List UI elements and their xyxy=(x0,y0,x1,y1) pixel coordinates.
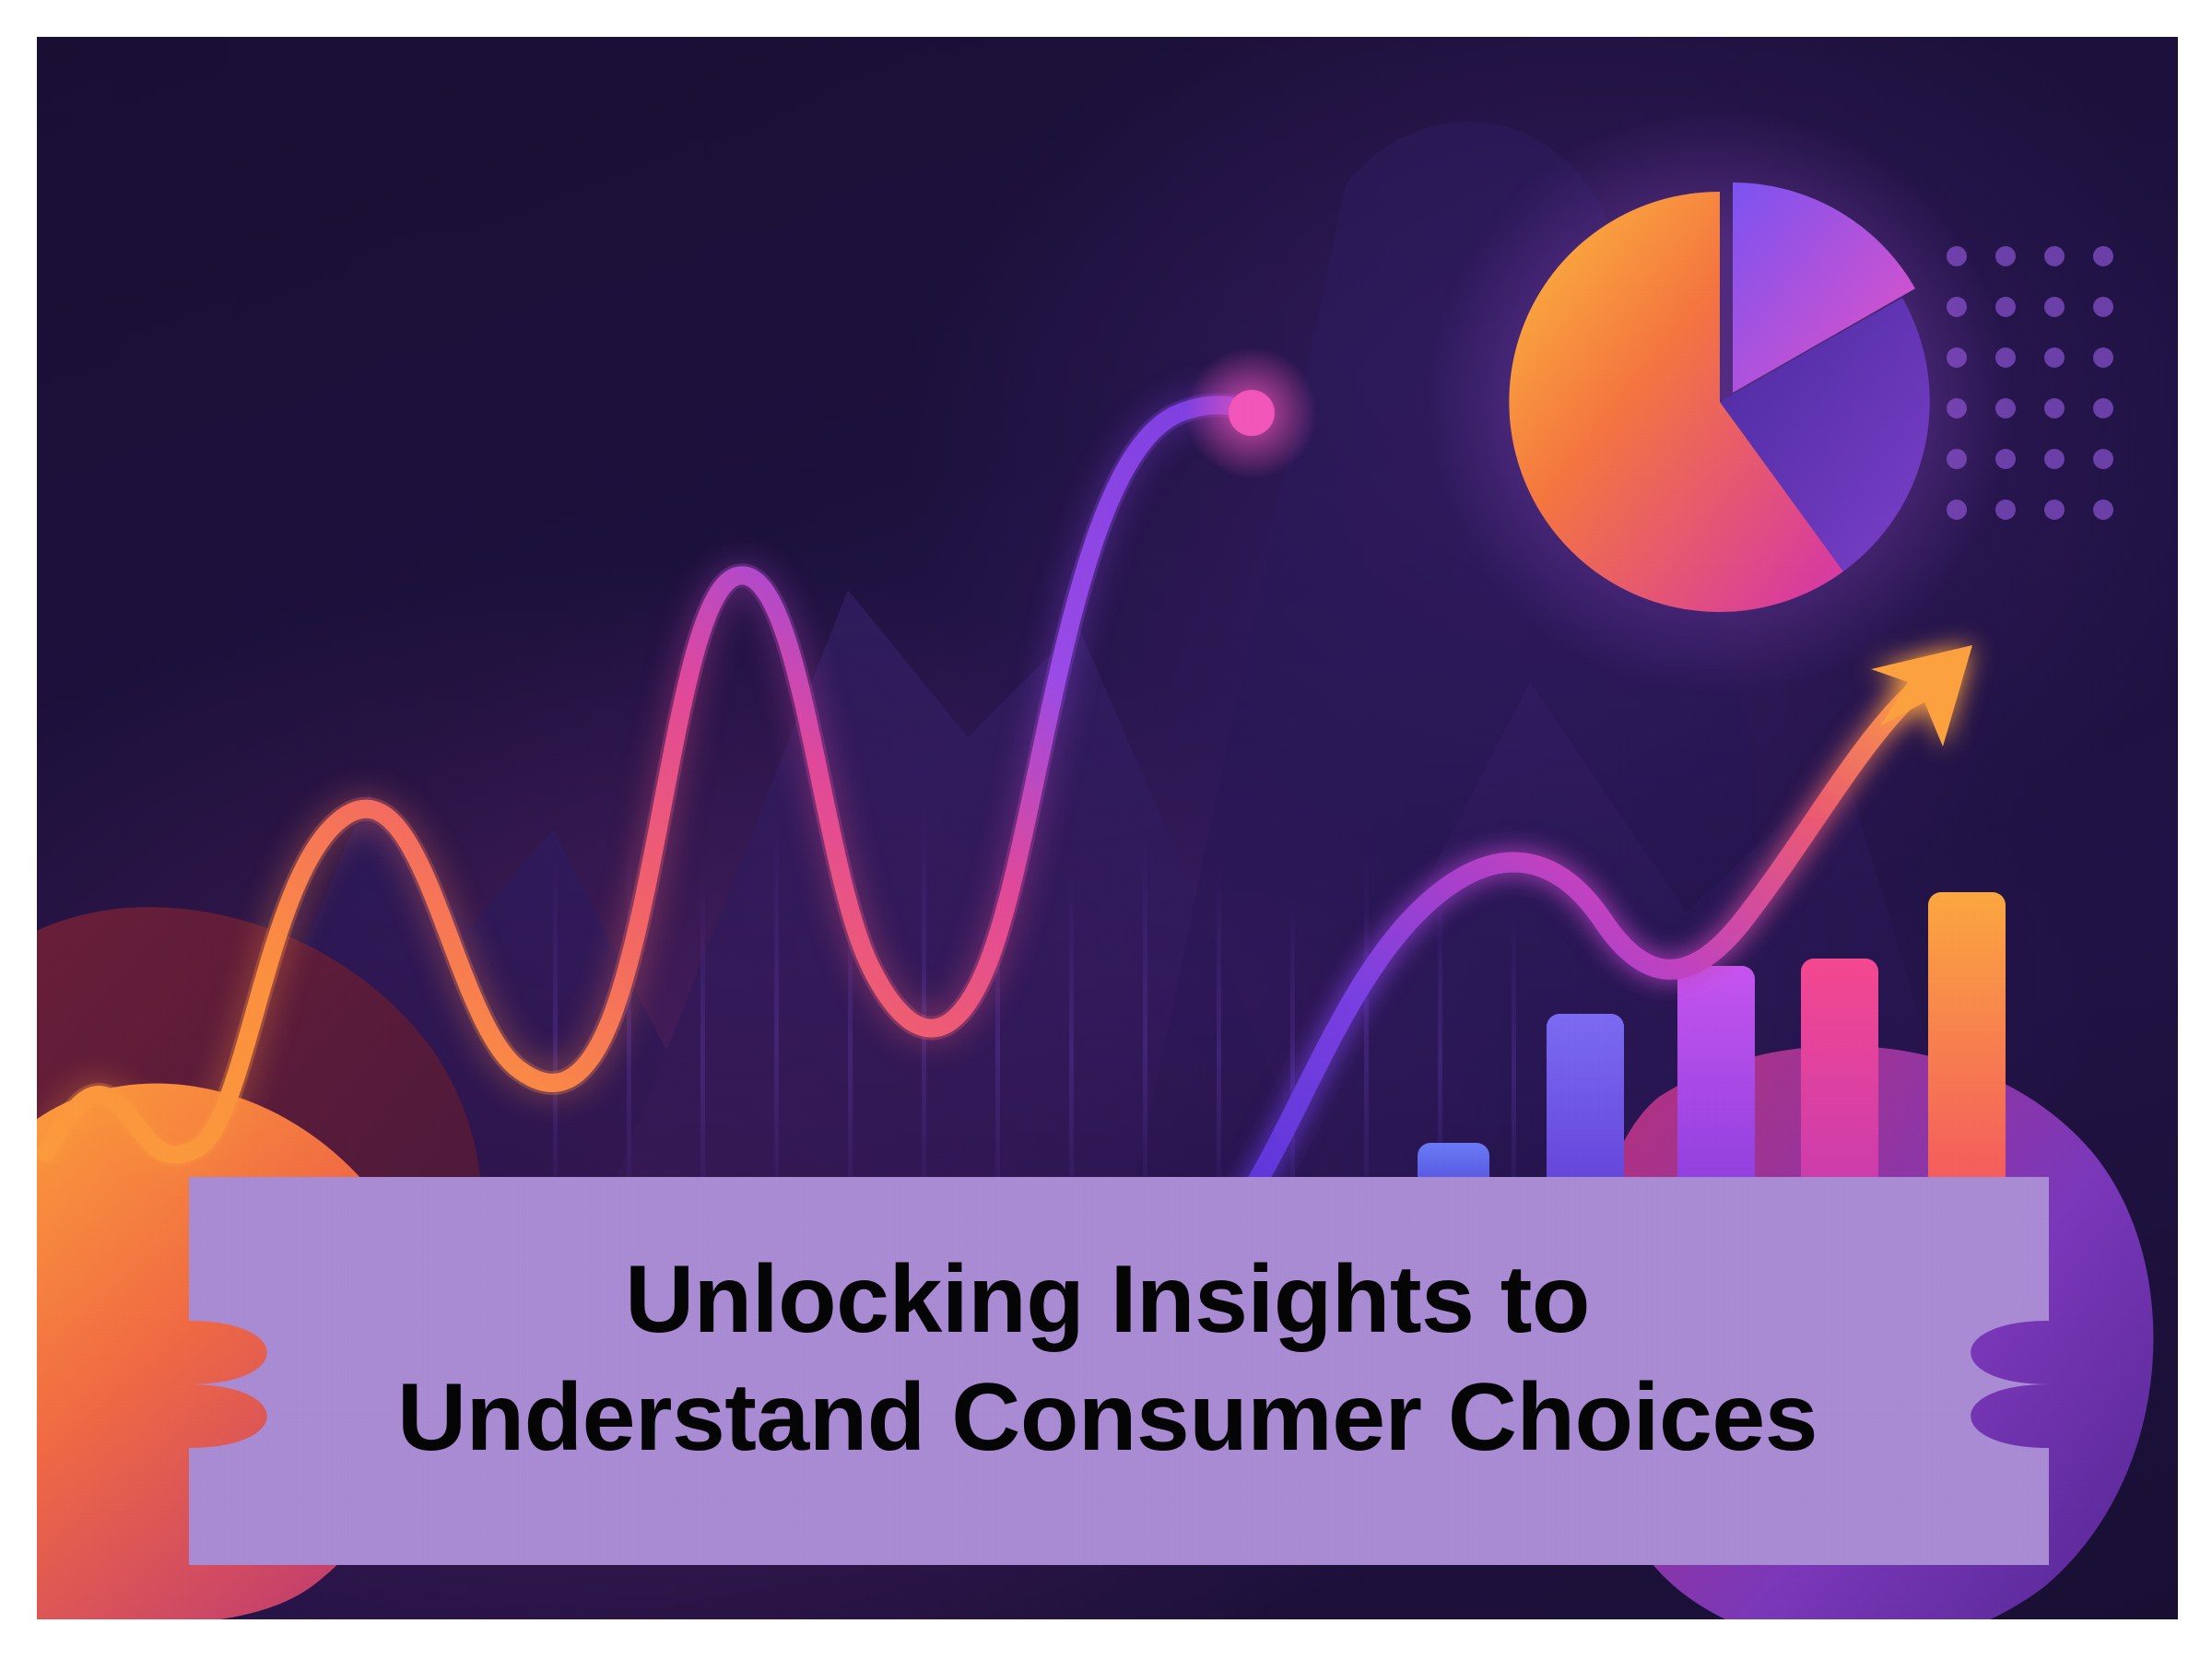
title-line-1: Unlocking Insights to xyxy=(37,1246,2178,1353)
title-line-2: Understand Consumer Choices xyxy=(37,1364,2178,1471)
poster-canvas: Unlocking Insights to Understand Consume… xyxy=(37,37,2178,1619)
title-banner: Unlocking Insights to Understand Consume… xyxy=(37,37,2178,1619)
